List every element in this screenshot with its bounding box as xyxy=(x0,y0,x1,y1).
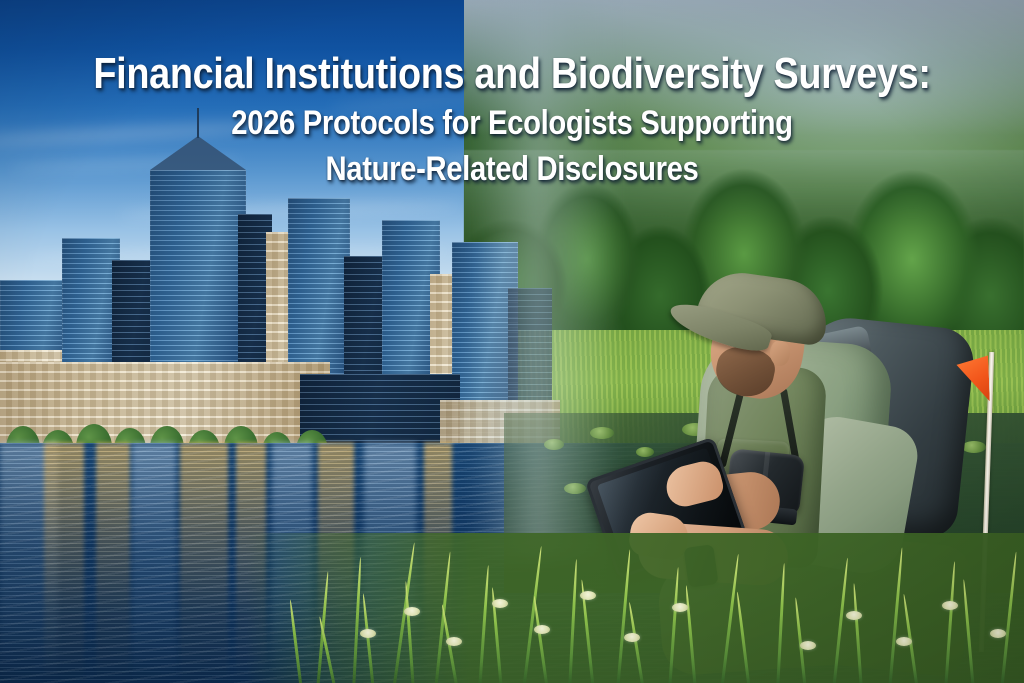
lily-pad xyxy=(544,439,564,450)
title-line-1: Financial Institutions and Biodiversity … xyxy=(72,48,953,100)
umbel-flower xyxy=(624,633,640,642)
grass-blade xyxy=(628,602,645,683)
umbel-flower xyxy=(942,601,958,610)
poster-hero: Financial Institutions and Biodiversity … xyxy=(0,0,1024,683)
grass-blade xyxy=(352,557,362,683)
grass-blade xyxy=(668,567,680,683)
lily-pad xyxy=(590,427,614,439)
grass-blade xyxy=(944,561,956,683)
grass-blade xyxy=(616,549,631,683)
umbel-flower xyxy=(446,637,462,646)
lily-pad xyxy=(564,483,586,494)
poster-title-block: Financial Institutions and Biodiversity … xyxy=(0,48,1024,192)
title-line-3: Nature-Related Disclosures xyxy=(72,146,953,192)
umbel-flower xyxy=(404,607,420,616)
foreground-vegetation xyxy=(0,533,1024,683)
title-line-2: 2026 Protocols for Ecologists Supporting xyxy=(72,100,953,146)
grass-blade xyxy=(776,563,786,683)
umbel-flower xyxy=(800,641,816,650)
grass-blade xyxy=(720,554,740,683)
umbel-flower xyxy=(896,637,912,646)
umbel-flower xyxy=(534,625,550,634)
grass-blade xyxy=(832,558,849,683)
umbel-flower xyxy=(846,611,862,620)
grass-blade xyxy=(522,546,543,683)
grass-blade xyxy=(478,565,490,683)
grass-blade xyxy=(685,585,697,683)
grass-blade xyxy=(404,581,415,683)
umbel-flower xyxy=(492,599,508,608)
grass-blade xyxy=(533,596,549,683)
umbel-flower xyxy=(580,591,596,600)
grass-blade xyxy=(962,579,975,683)
grass-blade xyxy=(852,583,863,683)
grass-blade xyxy=(888,547,904,683)
umbel-flower xyxy=(990,629,1006,638)
grass-blade xyxy=(568,559,578,683)
umbel-flower xyxy=(360,629,376,638)
grass-blade xyxy=(289,600,303,683)
grass-blade xyxy=(1000,552,1018,683)
grass-blade xyxy=(362,593,375,683)
ear xyxy=(770,340,790,366)
grass-blade xyxy=(736,592,751,683)
umbel-flower xyxy=(672,603,688,612)
